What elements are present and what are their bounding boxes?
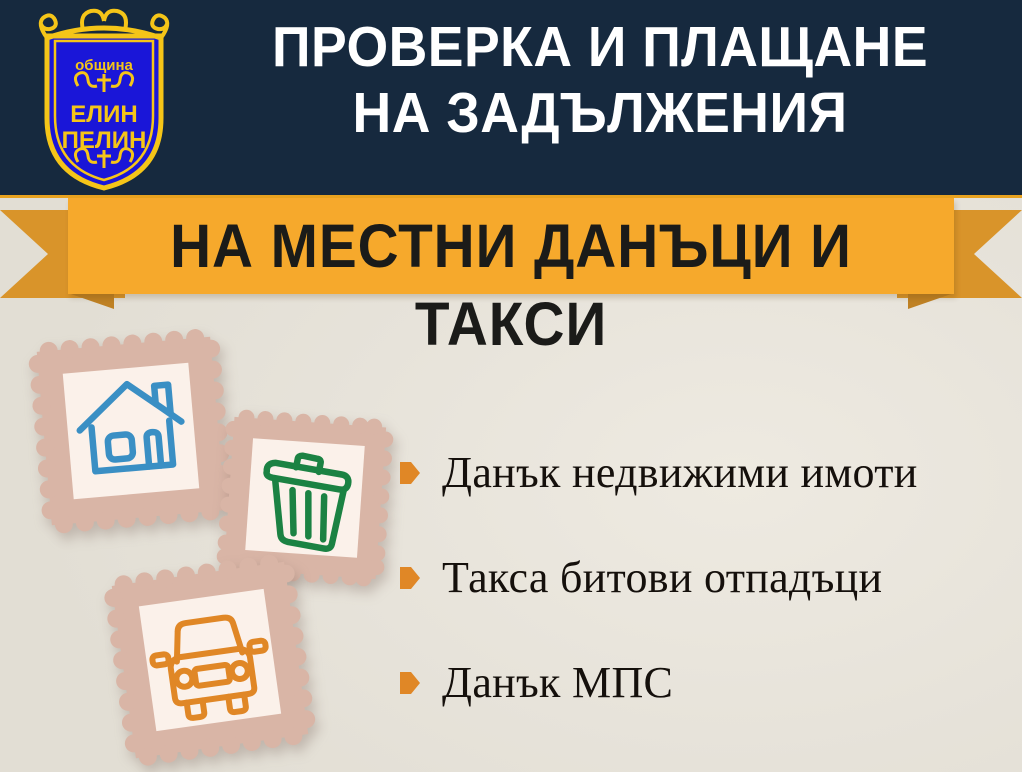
page-title-line-1: ПРОВЕРКА И ПЛАЩАНЕ — [272, 15, 928, 79]
stamp-card-vehicle — [85, 535, 335, 772]
list-item[interactable]: Данък недвижими имоти — [400, 420, 1010, 525]
arrow-right-marker-icon — [400, 670, 420, 696]
list-item-label: Данък МПС — [442, 657, 673, 708]
crest-icon: община ЕЛИН ПЕЛИН — [17, 6, 192, 192]
poster-canvas: община ЕЛИН ПЕЛИН ПРОВЕРКА И ПЛАЩАНЕ — [0, 0, 1022, 772]
page-title: ПРОВЕРКА И ПЛАЩАНЕ НА ЗАДЪЛЖЕНИЯ — [215, 14, 986, 146]
list-item-label: Данък недвижими имоти — [442, 447, 918, 498]
ribbon-label: НА МЕСТНИ ДАНЪЦИ И ТАКСИ — [99, 207, 923, 363]
page-title-line-2: НА ЗАДЪЛЖЕНИЯ — [215, 80, 986, 146]
list-item[interactable]: Такса битови отпадъци — [400, 525, 1010, 630]
ribbon-panel: НА МЕСТНИ ДАНЪЦИ И ТАКСИ — [68, 198, 954, 294]
svg-text:ЕЛИН: ЕЛИН — [70, 101, 137, 128]
tax-type-list: Данък недвижими имоти Такса битови отпад… — [400, 420, 1010, 735]
stamp-card-group — [0, 298, 430, 772]
subtitle-ribbon: НА МЕСТНИ ДАНЪЦИ И ТАКСИ — [0, 198, 1022, 310]
svg-text:ПЕЛИН: ПЕЛИН — [62, 127, 147, 154]
list-item-label: Такса битови отпадъци — [442, 552, 882, 603]
list-item[interactable]: Данък МПС — [400, 630, 1010, 735]
header-bar: община ЕЛИН ПЕЛИН ПРОВЕРКА И ПЛАЩАНЕ — [0, 0, 1022, 198]
arrow-right-marker-icon — [400, 460, 420, 486]
arrow-right-marker-icon — [400, 565, 420, 591]
